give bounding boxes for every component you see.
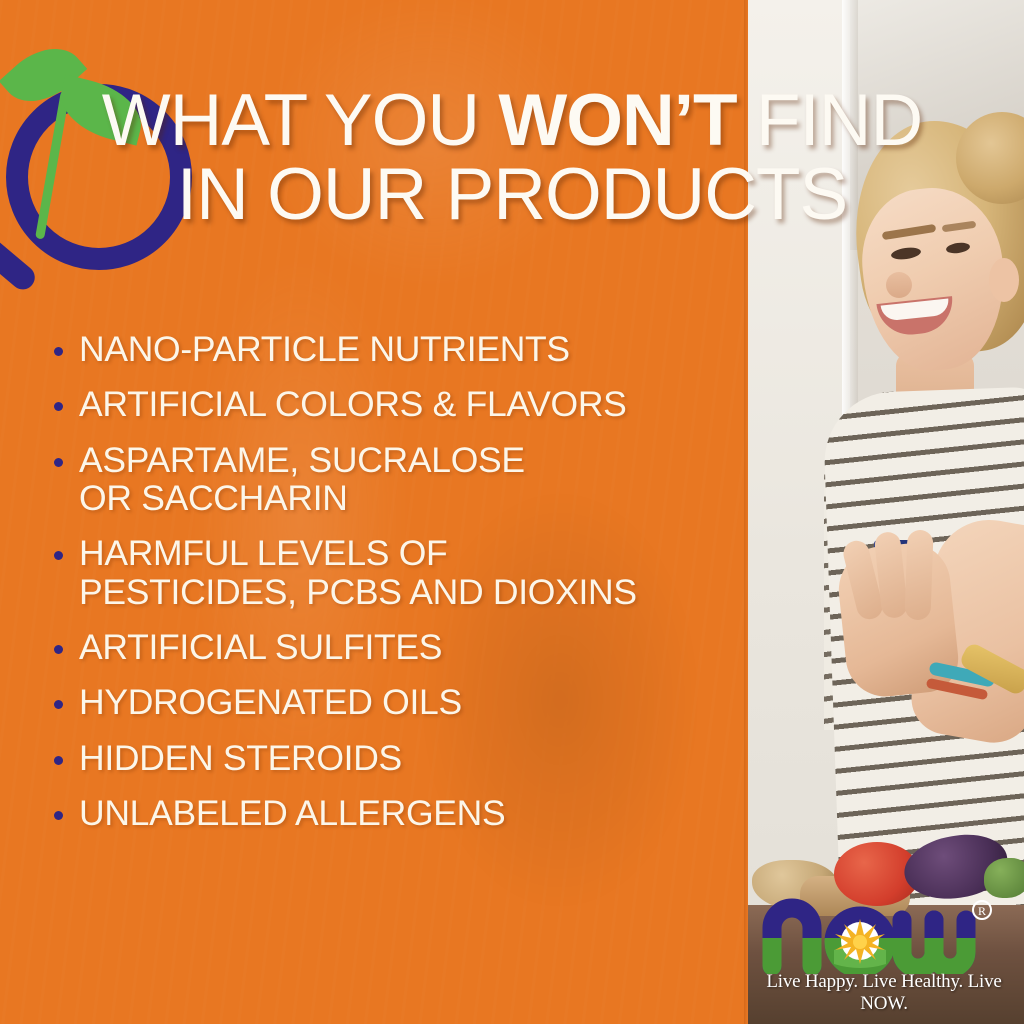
promotional-poster: WHAT YOU WON’T FIND IN OUR PRODUCTS NANO…: [0, 0, 1024, 1024]
list-item-line: PESTICIDES, PCBS AND DIOXINS: [79, 572, 637, 612]
list-item: HYDROGENATED OILS: [40, 683, 740, 721]
list-item-label: NANO-PARTICLE NUTRIENTS: [79, 330, 570, 368]
bullet-dot-icon: [54, 811, 63, 820]
bullet-dot-icon: [54, 551, 63, 560]
list-item-label: ASPARTAME, SUCRALOSE OR SACCHARIN: [79, 441, 525, 518]
registered-mark: R: [978, 904, 986, 918]
list-item: NANO-PARTICLE NUTRIENTS: [40, 330, 740, 368]
photo-finger: [904, 530, 933, 621]
bullet-dot-icon: [54, 347, 63, 356]
list-item-line: UNLABELED ALLERGENS: [79, 793, 505, 833]
exclusion-list: NANO-PARTICLE NUTRIENTS ARTIFICIAL COLOR…: [40, 330, 740, 849]
photo-nose: [886, 272, 912, 298]
list-item-line: ASPARTAME, SUCRALOSE: [79, 440, 525, 480]
list-item-line: NANO-PARTICLE NUTRIENTS: [79, 329, 570, 369]
brand-logo: R Live Happy. Live Healthy. Live NOW.: [750, 894, 1018, 998]
list-item: ARTIFICIAL SULFITES: [40, 628, 740, 666]
list-item-line: OR SACCHARIN: [79, 478, 348, 518]
headline-part-a: WHAT YOU: [102, 80, 499, 161]
photo-ear: [989, 258, 1019, 302]
headline-part-b: FIND: [737, 80, 923, 161]
list-item-line: HARMFUL LEVELS OF: [79, 533, 447, 573]
bullet-dot-icon: [54, 756, 63, 765]
photo-vegetable-greens: [984, 858, 1024, 898]
list-item-label: UNLABELED ALLERGENS: [79, 794, 505, 832]
headline-line-2: IN OUR PRODUCTS: [0, 160, 1024, 229]
list-item: HARMFUL LEVELS OF PESTICIDES, PCBS AND D…: [40, 534, 740, 611]
list-item-label: ARTIFICIAL COLORS & FLAVORS: [79, 385, 627, 423]
list-item: ASPARTAME, SUCRALOSE OR SACCHARIN: [40, 441, 740, 518]
list-item: UNLABELED ALLERGENS: [40, 794, 740, 832]
headline-emphasis: WON’T: [498, 80, 736, 161]
list-item-line: HIDDEN STEROIDS: [79, 738, 402, 778]
list-item: HIDDEN STEROIDS: [40, 739, 740, 777]
list-item-line: ARTIFICIAL SULFITES: [79, 627, 442, 667]
list-item-label: HYDROGENATED OILS: [79, 683, 462, 721]
list-item-line: ARTIFICIAL COLORS & FLAVORS: [79, 384, 627, 424]
page-title: WHAT YOU WON’T FIND IN OUR PRODUCTS: [0, 86, 1024, 230]
bullet-dot-icon: [54, 700, 63, 709]
bullet-dot-icon: [54, 458, 63, 467]
now-wordmark-icon: R: [750, 894, 1018, 974]
headline-line-1: WHAT YOU WON’T FIND: [0, 86, 1024, 155]
bullet-dot-icon: [54, 402, 63, 411]
brand-tagline: Live Happy. Live Healthy. Live NOW.: [750, 971, 1018, 1015]
list-item-label: HIDDEN STEROIDS: [79, 739, 402, 777]
list-item-label: ARTIFICIAL SULFITES: [79, 628, 442, 666]
list-item-line: HYDROGENATED OILS: [79, 682, 462, 722]
list-item-label: HARMFUL LEVELS OF PESTICIDES, PCBS AND D…: [79, 534, 637, 611]
list-item: ARTIFICIAL COLORS & FLAVORS: [40, 385, 740, 423]
bullet-dot-icon: [54, 645, 63, 654]
photo-teeth: [881, 299, 950, 322]
